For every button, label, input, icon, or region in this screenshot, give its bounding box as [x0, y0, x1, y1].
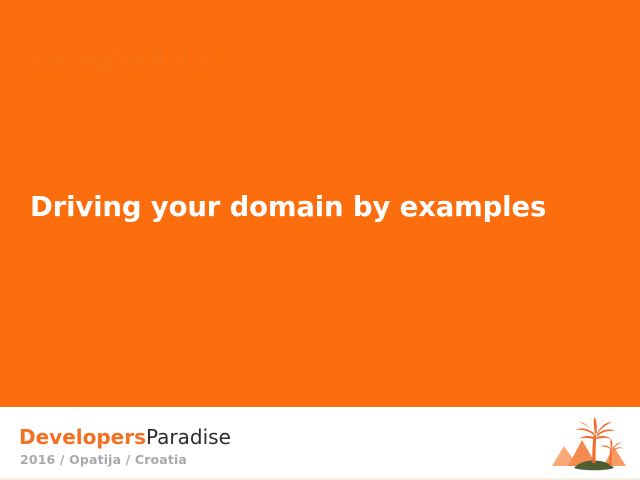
- slide-hero-panel: Sample Title Driving your domain by exam…: [0, 0, 640, 407]
- slide-title: Driving your domain by examples: [30, 190, 546, 224]
- slide-footer: DevelopersParadise 2016 / Opatija / Croa…: [0, 407, 640, 480]
- placeholder-title: Sample Title: [30, 44, 218, 76]
- brand-name-primary: Developers: [19, 425, 146, 449]
- brand-name-secondary: Paradise: [146, 425, 231, 449]
- brand-wordmark: DevelopersParadise: [19, 427, 231, 448]
- palm-island-logo: [548, 416, 634, 474]
- presentation-slide: Sample Title Driving your domain by exam…: [0, 0, 640, 480]
- event-details: 2016 / Opatija / Croatia: [20, 452, 187, 467]
